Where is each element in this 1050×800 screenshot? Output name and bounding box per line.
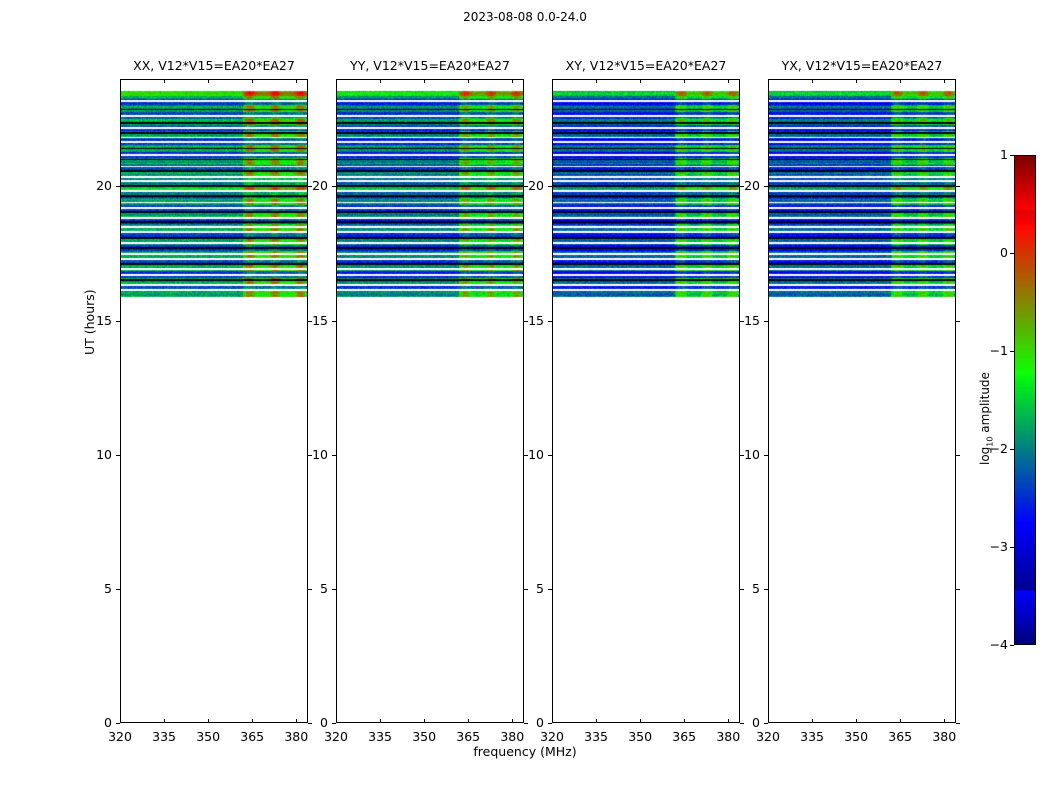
x-tick-label-yy-3: 365 (448, 729, 488, 744)
heatmap-panel-yy[interactable] (336, 79, 524, 723)
y-tick-mark-yy-0-0 (332, 723, 336, 724)
x-tick-label-yy-4: 380 (492, 729, 532, 744)
colorbar-tick-mark-3 (1010, 351, 1014, 352)
panel-title-xx: XX, V12*V15=EA20*EA27 (88, 58, 340, 73)
y-tick-label-yy-4: 20 (292, 178, 328, 193)
x-tick-mark-yy-4-1 (512, 79, 513, 83)
x-tick-mark-xy-0-1 (552, 79, 553, 83)
y-tick-mark-xx-0-0 (116, 723, 120, 724)
colorbar-label-base: log (978, 447, 992, 465)
y-tick-mark-xx-2-0 (116, 455, 120, 456)
x-tick-mark-xx-1-1 (164, 79, 165, 83)
y-axis-label: UT (hours) (82, 289, 97, 355)
x-tick-mark-xy-4-1 (728, 79, 729, 83)
waterfall-image-xx (121, 80, 307, 722)
x-tick-mark-yy-3-1 (468, 79, 469, 83)
x-tick-label-xx-3: 365 (232, 729, 272, 744)
x-tick-mark-yy-0-0 (336, 719, 337, 723)
colorbar-tick-label-4: 0 (982, 245, 1008, 260)
colorbar-gradient (1015, 156, 1035, 644)
y-tick-mark-yx-1-1 (956, 589, 960, 590)
x-tick-mark-yy-1-0 (380, 719, 381, 723)
x-tick-label-xx-4: 380 (276, 729, 316, 744)
y-tick-label-xy-2: 10 (508, 447, 544, 462)
y-tick-label-xx-2: 10 (76, 447, 112, 462)
heatmap-panel-xy[interactable] (552, 79, 740, 723)
y-tick-mark-yx-4-1 (956, 186, 960, 187)
y-tick-mark-yx-3-1 (956, 321, 960, 322)
y-tick-mark-yx-0-1 (956, 723, 960, 724)
y-tick-mark-yx-4-0 (764, 186, 768, 187)
y-tick-label-xx-1: 5 (76, 581, 112, 596)
y-tick-label-yy-1: 5 (292, 581, 328, 596)
colorbar-tick-mark-5 (1010, 155, 1014, 156)
x-tick-label-yy-1: 335 (360, 729, 400, 744)
x-tick-label-yx-4: 380 (924, 729, 964, 744)
x-tick-mark-yx-3-1 (900, 79, 901, 83)
waterfall-image-yx (769, 80, 955, 722)
y-tick-label-yx-1: 5 (724, 581, 760, 596)
y-tick-label-xy-0: 0 (508, 715, 544, 730)
y-tick-label-yx-3: 15 (724, 313, 760, 328)
x-tick-mark-xx-3-1 (252, 79, 253, 83)
x-axis-label: frequency (MHz) (0, 744, 1050, 759)
x-tick-mark-yx-0-0 (768, 719, 769, 723)
y-tick-label-yy-2: 10 (292, 447, 328, 462)
heatmap-panel-yx[interactable] (768, 79, 956, 723)
x-tick-label-xy-2: 350 (620, 729, 660, 744)
y-tick-mark-xy-4-0 (548, 186, 552, 187)
x-tick-label-xy-1: 335 (576, 729, 616, 744)
waterfall-image-yy (337, 80, 523, 722)
y-tick-mark-yy-2-0 (332, 455, 336, 456)
x-tick-mark-xy-3-0 (684, 719, 685, 723)
x-tick-mark-xy-2-1 (640, 79, 641, 83)
x-tick-label-yx-2: 350 (836, 729, 876, 744)
y-tick-label-yy-0: 0 (292, 715, 328, 730)
colorbar-tick-mark-1 (1010, 547, 1014, 548)
x-tick-mark-yx-0-1 (768, 79, 769, 83)
colorbar-label-tail: amplitude (978, 372, 992, 436)
colorbar[interactable] (1014, 155, 1036, 645)
x-tick-mark-yy-2-0 (424, 719, 425, 723)
x-tick-mark-xy-3-1 (684, 79, 685, 83)
colorbar-tick-mark-4 (1010, 253, 1014, 254)
y-tick-label-yx-0: 0 (724, 715, 760, 730)
figure-suptitle: 2023-08-08 0.0-24.0 (0, 10, 1050, 24)
x-tick-label-xy-3: 365 (664, 729, 704, 744)
y-tick-mark-xy-3-0 (548, 321, 552, 322)
x-tick-label-xx-1: 335 (144, 729, 184, 744)
x-tick-mark-yy-1-1 (380, 79, 381, 83)
x-tick-label-yx-0: 320 (748, 729, 788, 744)
x-tick-mark-xx-4-1 (296, 79, 297, 83)
x-tick-mark-xx-3-0 (252, 719, 253, 723)
x-tick-label-xy-4: 380 (708, 729, 748, 744)
y-tick-mark-yy-1-0 (332, 589, 336, 590)
y-tick-label-xx-0: 0 (76, 715, 112, 730)
x-tick-mark-xx-2-0 (208, 719, 209, 723)
x-tick-mark-yx-2-1 (856, 79, 857, 83)
x-tick-mark-yx-4-0 (944, 719, 945, 723)
colorbar-tick-label-5: 1 (982, 147, 1008, 162)
x-tick-label-yx-3: 365 (880, 729, 920, 744)
y-tick-mark-yx-3-0 (764, 321, 768, 322)
x-tick-mark-xy-0-0 (552, 719, 553, 723)
colorbar-tick-label-0: −4 (982, 637, 1008, 652)
panel-title-yy: YY, V12*V15=EA20*EA27 (304, 58, 556, 73)
x-tick-mark-xy-2-0 (640, 719, 641, 723)
colorbar-tick-label-3: −1 (982, 343, 1008, 358)
x-tick-label-xx-2: 350 (188, 729, 228, 744)
y-tick-mark-yx-0-0 (764, 723, 768, 724)
colorbar-tick-mark-0 (1010, 645, 1014, 646)
colorbar-label: log10 amplitude (978, 372, 994, 465)
y-tick-mark-yy-4-0 (332, 186, 336, 187)
y-tick-mark-xx-3-0 (116, 321, 120, 322)
y-tick-mark-xx-4-0 (116, 186, 120, 187)
y-tick-mark-yx-2-0 (764, 455, 768, 456)
y-tick-label-xy-4: 20 (508, 178, 544, 193)
figure-canvas: 2023-08-08 0.0-24.0 XX, V12*V15=EA20*EA2… (0, 0, 1050, 800)
waterfall-image-xy (553, 80, 739, 722)
y-tick-mark-xy-2-0 (548, 455, 552, 456)
y-tick-label-xy-1: 5 (508, 581, 544, 596)
x-tick-mark-xy-1-1 (596, 79, 597, 83)
y-tick-mark-yy-3-0 (332, 321, 336, 322)
x-tick-mark-yy-0-1 (336, 79, 337, 83)
x-tick-mark-yx-1-0 (812, 719, 813, 723)
x-tick-mark-yx-1-1 (812, 79, 813, 83)
x-tick-mark-yx-4-1 (944, 79, 945, 83)
y-tick-mark-yx-2-1 (956, 455, 960, 456)
y-tick-label-yx-4: 20 (724, 178, 760, 193)
y-tick-mark-yx-1-0 (764, 589, 768, 590)
panel-title-xy: XY, V12*V15=EA20*EA27 (520, 58, 772, 73)
heatmap-panel-xx[interactable] (120, 79, 308, 723)
colorbar-tick-mark-2 (1010, 449, 1014, 450)
y-tick-mark-xx-1-0 (116, 589, 120, 590)
x-tick-label-xx-0: 320 (100, 729, 140, 744)
y-tick-mark-xy-0-0 (548, 723, 552, 724)
x-tick-mark-xx-0-0 (120, 719, 121, 723)
x-tick-mark-xx-2-1 (208, 79, 209, 83)
y-tick-label-xx-4: 20 (76, 178, 112, 193)
panel-title-yx: YX, V12*V15=EA20*EA27 (736, 58, 988, 73)
x-tick-label-yx-1: 335 (792, 729, 832, 744)
x-tick-mark-yx-2-0 (856, 719, 857, 723)
x-tick-mark-xy-1-0 (596, 719, 597, 723)
y-tick-label-xy-3: 15 (508, 313, 544, 328)
x-tick-mark-xx-0-1 (120, 79, 121, 83)
x-tick-mark-yx-3-0 (900, 719, 901, 723)
x-tick-mark-yy-2-1 (424, 79, 425, 83)
colorbar-label-subscript: 10 (985, 437, 994, 447)
y-tick-label-yx-2: 10 (724, 447, 760, 462)
x-tick-mark-yy-3-0 (468, 719, 469, 723)
x-tick-label-yy-0: 320 (316, 729, 356, 744)
y-tick-mark-xy-1-0 (548, 589, 552, 590)
x-tick-label-xy-0: 320 (532, 729, 572, 744)
colorbar-tick-label-1: −3 (982, 539, 1008, 554)
x-tick-label-yy-2: 350 (404, 729, 444, 744)
x-tick-mark-xx-1-0 (164, 719, 165, 723)
y-tick-label-yy-3: 15 (292, 313, 328, 328)
